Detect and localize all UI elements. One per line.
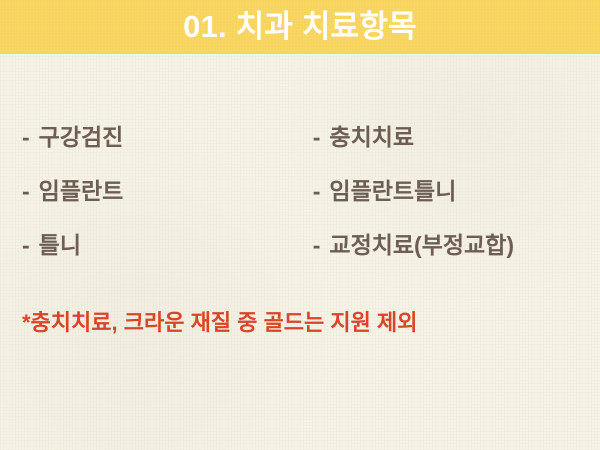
list-item: - 충치치료 bbox=[313, 110, 600, 164]
bullet-dash-icon: - bbox=[313, 180, 321, 203]
header-bar: 01. 치과 치료항목 bbox=[0, 0, 600, 54]
list-item-label: 임플란트틀니 bbox=[329, 180, 456, 203]
slide-canvas: 01. 치과 치료항목 - 구강검진 - 임플란트 - 틀니 - 충치치료 - bbox=[0, 0, 600, 450]
treatment-list-area: - 구강검진 - 임플란트 - 틀니 - 충치치료 - 임플란트틀니 - bbox=[0, 110, 600, 272]
list-item-label: 교정치료(부정교합) bbox=[329, 234, 514, 257]
bullet-dash-icon: - bbox=[313, 234, 321, 257]
list-item: - 틀니 bbox=[22, 218, 291, 272]
footnote-text: *충치치료, 크라운 재질 중 골드는 지원 제외 bbox=[22, 312, 417, 334]
bullet-dash-icon: - bbox=[22, 180, 30, 203]
treatment-column-right: - 충치치료 - 임플란트틀니 - 교정치료(부정교합) bbox=[291, 110, 600, 272]
list-item-label: 임플란트 bbox=[39, 180, 124, 203]
bullet-dash-icon: - bbox=[313, 126, 321, 149]
treatment-column-left: - 구강검진 - 임플란트 - 틀니 bbox=[0, 110, 291, 272]
list-item-label: 충치치료 bbox=[329, 126, 414, 149]
list-item: - 구강검진 bbox=[22, 110, 291, 164]
list-item: - 교정치료(부정교합) bbox=[313, 218, 600, 272]
list-item-label: 틀니 bbox=[39, 234, 81, 257]
bullet-dash-icon: - bbox=[22, 126, 30, 149]
list-item: - 임플란트틀니 bbox=[313, 164, 600, 218]
bullet-dash-icon: - bbox=[22, 234, 30, 257]
list-item: - 임플란트 bbox=[22, 164, 291, 218]
page-title: 01. 치과 치료항목 bbox=[183, 11, 417, 42]
list-item-label: 구강검진 bbox=[39, 126, 124, 149]
